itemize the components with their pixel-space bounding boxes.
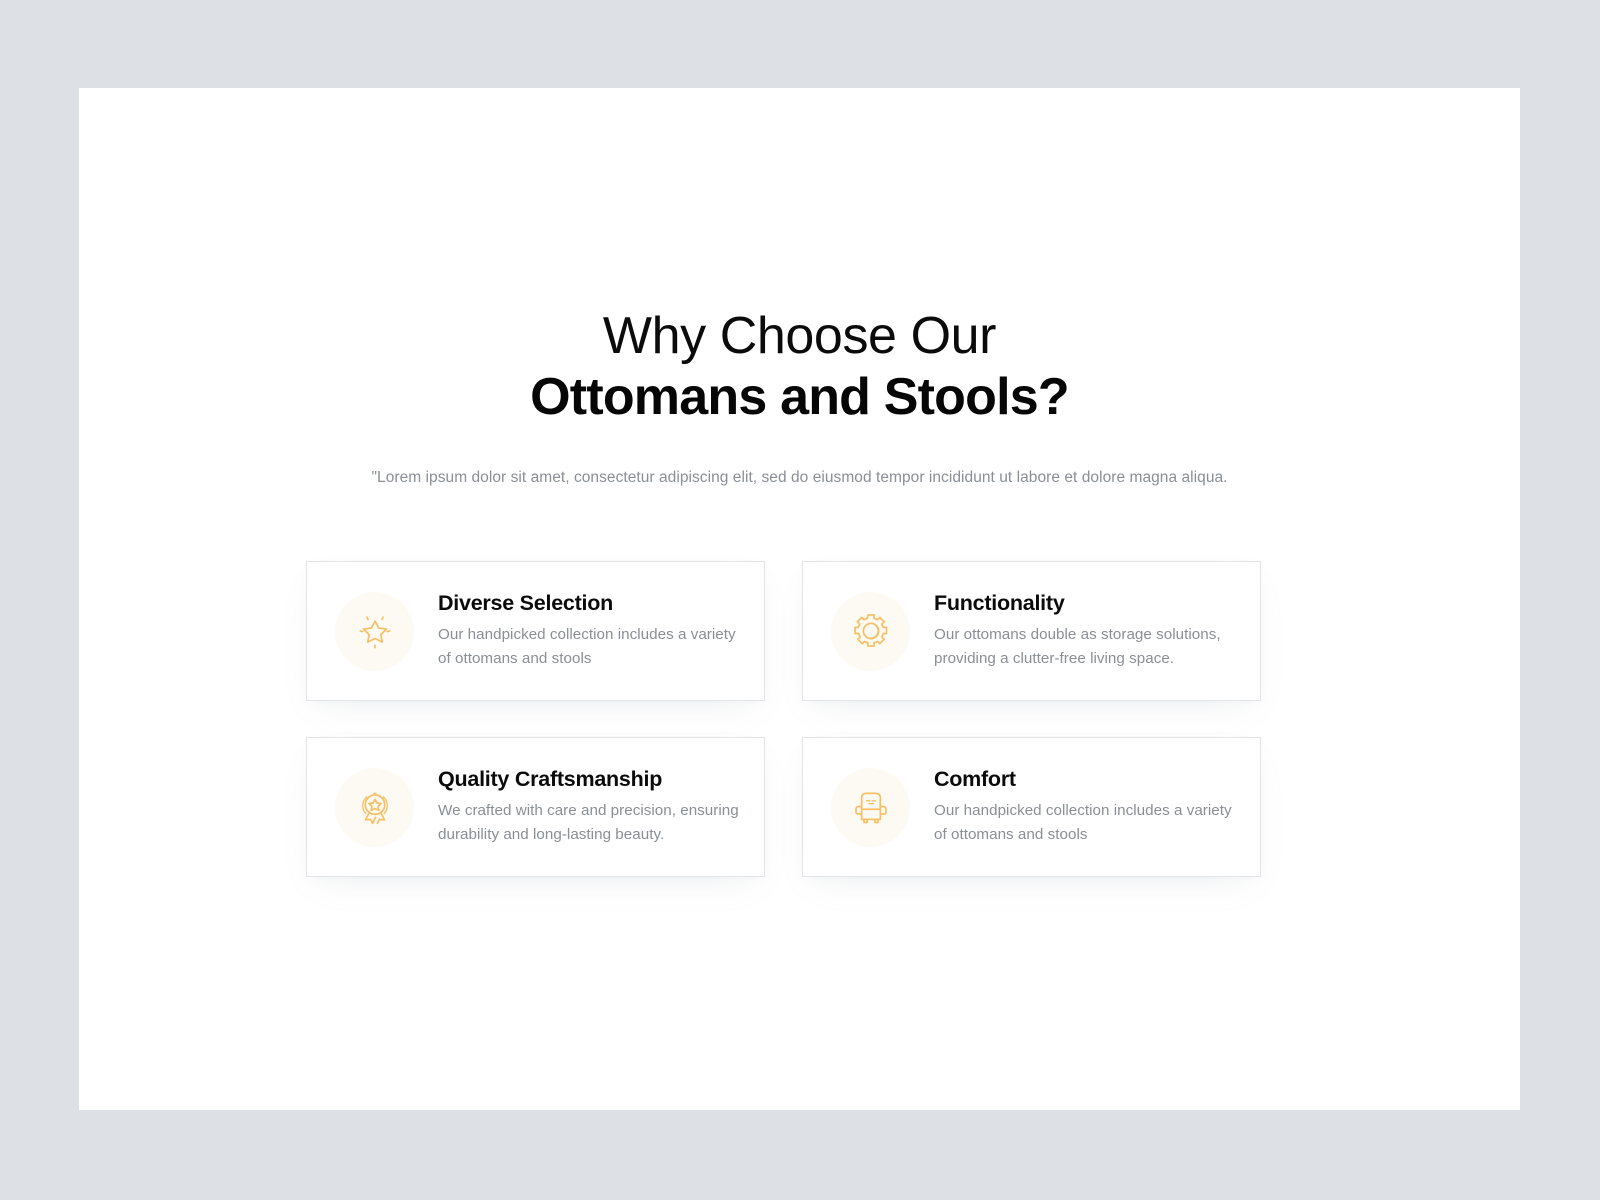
section-heading: Why Choose Our Ottomans and Stools?: [79, 306, 1520, 428]
feature-card-text: Functionality Our ottomans double as sto…: [934, 591, 1236, 671]
feature-card-text: Comfort Our handpicked collection includ…: [934, 767, 1236, 847]
feature-card-description: Our handpicked collection includes a var…: [934, 799, 1236, 847]
feature-card-description: We crafted with care and precision, ensu…: [438, 799, 740, 847]
page-canvas: Why Choose Our Ottomans and Stools? "Lor…: [79, 88, 1520, 1110]
feature-cards-grid: Diverse Selection Our handpicked collect…: [306, 561, 1261, 877]
award-medal-icon: [335, 768, 414, 847]
feature-card-description: Our ottomans double as storage solutions…: [934, 623, 1236, 671]
gear-icon: [831, 592, 910, 671]
feature-card-description: Our handpicked collection includes a var…: [438, 623, 740, 671]
feature-card-functionality[interactable]: Functionality Our ottomans double as sto…: [802, 561, 1261, 701]
star-sparkle-icon: [335, 592, 414, 671]
feature-card-text: Quality Craftsmanship We crafted with ca…: [438, 767, 740, 847]
section-subtitle: "Lorem ipsum dolor sit amet, consectetur…: [79, 467, 1520, 489]
feature-card-title: Quality Craftsmanship: [438, 767, 740, 792]
feature-card-title: Functionality: [934, 591, 1236, 616]
feature-card-title: Diverse Selection: [438, 591, 740, 616]
armchair-icon: [831, 768, 910, 847]
feature-card-comfort[interactable]: Comfort Our handpicked collection includ…: [802, 737, 1261, 877]
feature-card-quality-craftsmanship[interactable]: Quality Craftsmanship We crafted with ca…: [306, 737, 765, 877]
feature-card-title: Comfort: [934, 767, 1236, 792]
page-title-line-1: Why Choose Our: [79, 306, 1520, 366]
feature-card-diverse-selection[interactable]: Diverse Selection Our handpicked collect…: [306, 561, 765, 701]
feature-card-text: Diverse Selection Our handpicked collect…: [438, 591, 740, 671]
page-title-line-2: Ottomans and Stools?: [79, 366, 1520, 428]
